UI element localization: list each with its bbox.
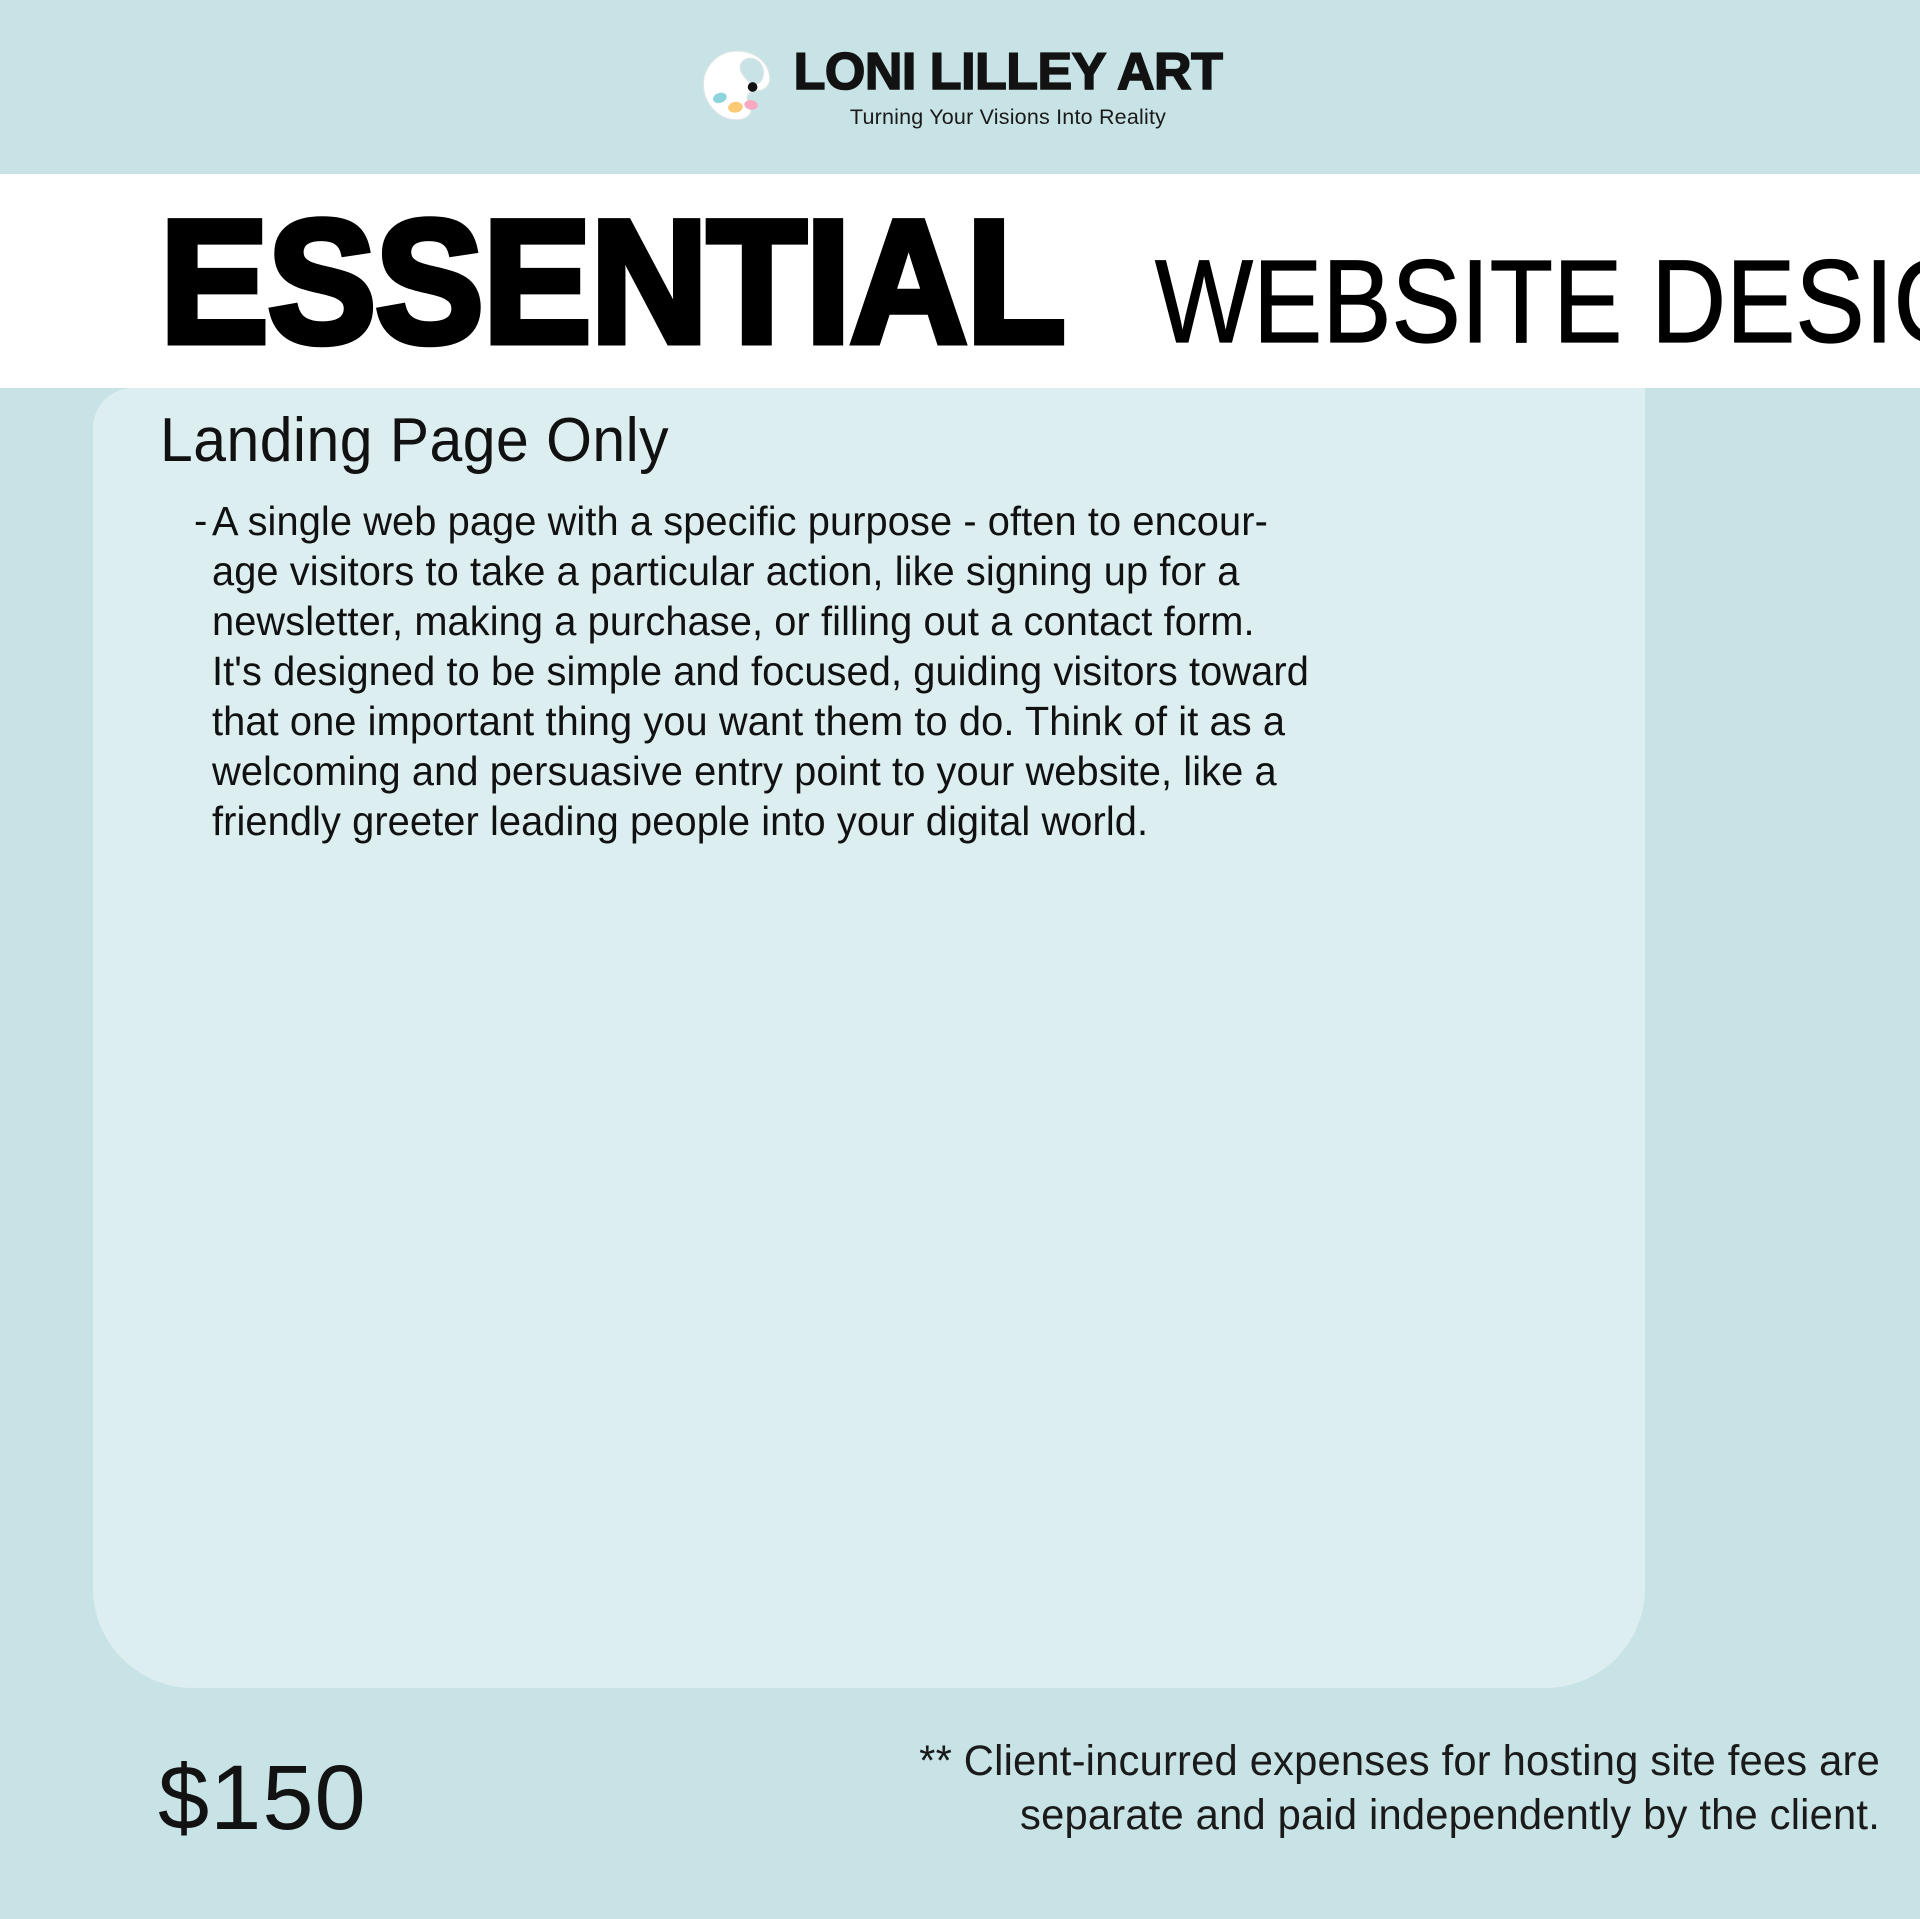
- bullet-line: age visitors to take a particular action…: [212, 546, 1520, 596]
- list-item: - A single web page with a specific purp…: [160, 496, 1560, 846]
- footnote: ** Client-incurred expenses for hosting …: [735, 1734, 1880, 1842]
- brand-tagline: Turning Your Visions Into Reality: [850, 107, 1166, 129]
- footnote-line: separate and paid independently by the c…: [735, 1788, 1880, 1842]
- price-tag: $150: [158, 1752, 367, 1844]
- title-band: ESSENTIAL WEBSITE DESIGN: [0, 174, 1920, 388]
- paint-palette-icon: [698, 48, 776, 126]
- footer: $150 ** Client-incurred expenses for hos…: [0, 1700, 1920, 1919]
- brand-name: LONI LILLEY ART: [794, 46, 1223, 98]
- brand-header: LONI LILLEY ART Turning Your Visions Int…: [0, 0, 1920, 174]
- pricing-card-page: LONI LILLEY ART Turning Your Visions Int…: [0, 0, 1920, 1919]
- section-heading: Landing Page Only: [160, 405, 669, 476]
- title-primary: ESSENTIAL: [160, 195, 1065, 370]
- bullet-line: that one important thing you want them t…: [212, 696, 1520, 746]
- bullet-line: A single web page with a specific purpos…: [212, 496, 1520, 546]
- content-card: Landing Page Only - A single web page wi…: [93, 388, 1645, 1688]
- brand-text-block: LONI LILLEY ART Turning Your Visions Int…: [794, 46, 1223, 129]
- bullet-line: friendly greeter leading people into you…: [212, 796, 1520, 846]
- title-row: ESSENTIAL WEBSITE DESIGN: [160, 195, 1920, 370]
- bullet-line: It's designed to be simple and focused, …: [212, 646, 1520, 696]
- bullet-line: welcoming and persuasive entry point to …: [212, 746, 1520, 796]
- bullet-list: - A single web page with a specific purp…: [160, 496, 1560, 846]
- bullet-marker: -: [160, 496, 212, 546]
- bullet-text: A single web page with a specific purpos…: [212, 496, 1520, 846]
- bullet-line: newsletter, making a purchase, or fillin…: [212, 596, 1520, 646]
- title-secondary: WEBSITE DESIGN: [1155, 243, 1920, 361]
- footnote-line: ** Client-incurred expenses for hosting …: [735, 1734, 1880, 1788]
